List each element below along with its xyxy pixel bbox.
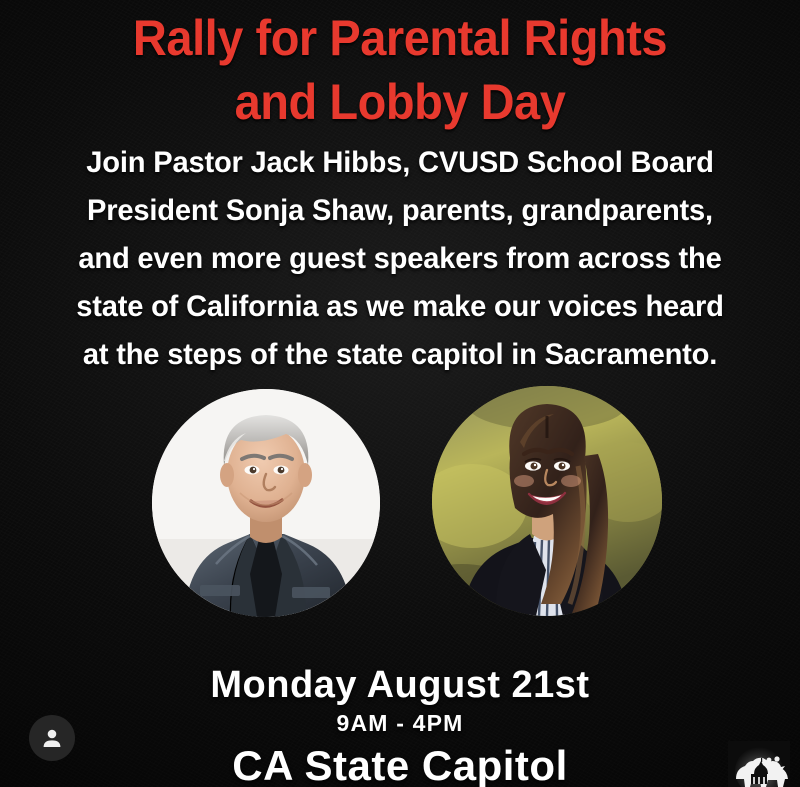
speaker-portrait-sonja-shaw bbox=[432, 386, 662, 616]
org-logo bbox=[728, 741, 790, 787]
person-avatar-icon bbox=[40, 726, 64, 750]
event-location: CA State Capitol bbox=[0, 741, 800, 787]
event-date: Monday August 21st bbox=[0, 663, 800, 707]
body-copy: Join Pastor Jack Hibbs, CVUSD School Boa… bbox=[29, 139, 770, 379]
bear-capitol-dome-logo-icon bbox=[728, 741, 790, 787]
portrait-photo-left-icon bbox=[152, 389, 380, 617]
page-title: Rally for Parental Rights and Lobby Day bbox=[24, 6, 776, 134]
speaker-portrait-jack-hibbs bbox=[152, 389, 380, 617]
poster-canvas: Rally for Parental Rights and Lobby Day … bbox=[0, 0, 800, 787]
portrait-photo-right-icon bbox=[432, 386, 662, 616]
event-time: 9AM - 4PM bbox=[0, 709, 800, 737]
avatar[interactable] bbox=[29, 715, 75, 761]
